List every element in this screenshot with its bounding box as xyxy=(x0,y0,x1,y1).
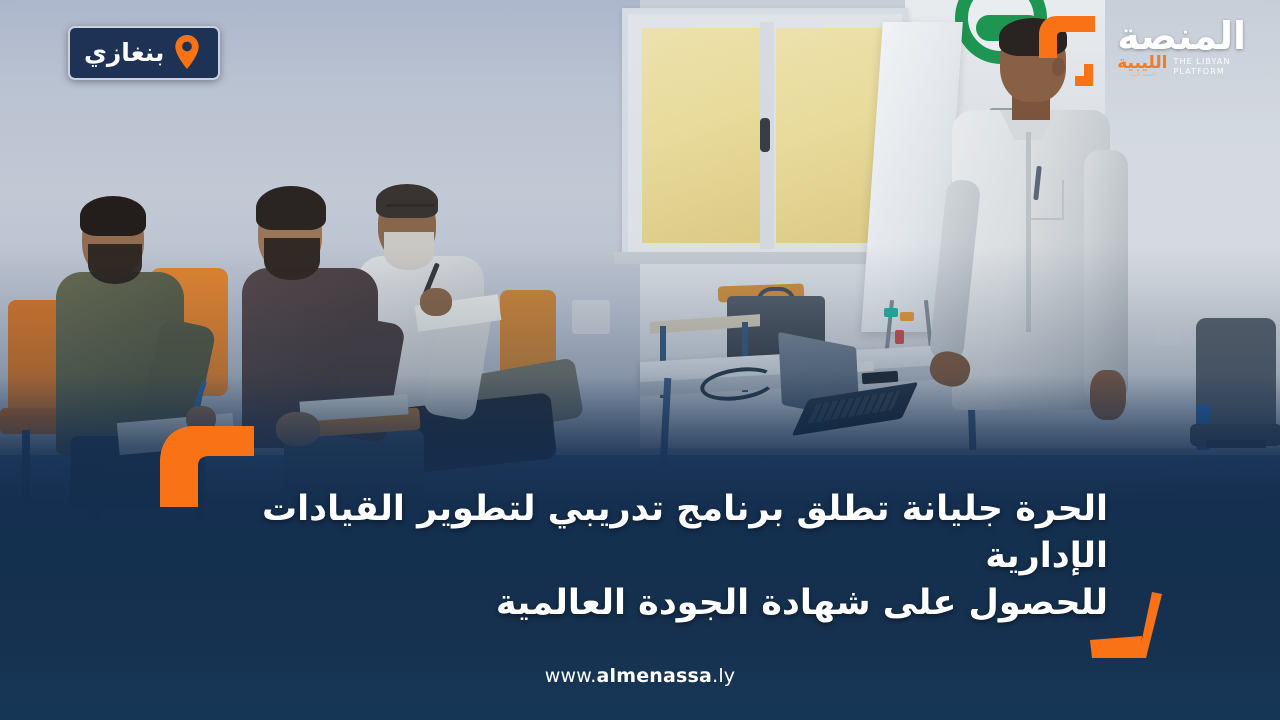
location-label: بنغازي xyxy=(84,40,164,65)
url-prefix: www. xyxy=(545,665,597,687)
almenassa-logo-mark-icon xyxy=(1037,14,1109,88)
brand-name-arabic: المنصة xyxy=(1117,18,1246,54)
location-badge[interactable]: بنغازي xyxy=(68,26,220,80)
brand-logo[interactable]: المنصة THE LIBYAN PLATFORM الليبية المنص… xyxy=(1037,14,1246,88)
url-main: almenassa xyxy=(596,665,712,687)
brand-wordmark: المنصة THE LIBYAN PLATFORM الليبية المنص… xyxy=(1117,14,1246,78)
url-suffix: .ly xyxy=(712,665,735,687)
brand-en-line2: PLATFORM xyxy=(1174,67,1231,76)
brand-subline: THE LIBYAN PLATFORM الليبية المنصة الليب… xyxy=(1117,55,1230,78)
headline-line-1: الحرة جليانة تطلق برنامج تدريبي لتطوير ا… xyxy=(160,486,1108,580)
map-pin-icon xyxy=(174,35,200,69)
headline: الحرة جليانة تطلق برنامج تدريبي لتطوير ا… xyxy=(160,486,1108,627)
brand-en-line1: THE LIBYAN xyxy=(1174,57,1231,66)
brand-tagline: المنصة الليبية xyxy=(1130,73,1155,78)
brand-qualifier-arabic: الليبية xyxy=(1117,55,1167,72)
site-url[interactable]: www.almenassa.ly xyxy=(0,665,1280,687)
brand-name-english: THE LIBYAN PLATFORM xyxy=(1174,57,1231,75)
headline-line-2: للحصول على شهادة الجودة العالمية xyxy=(160,580,1108,627)
news-card: بنغازي المنصة THE LIBYAN PLATFORM الليبي… xyxy=(0,0,1280,720)
